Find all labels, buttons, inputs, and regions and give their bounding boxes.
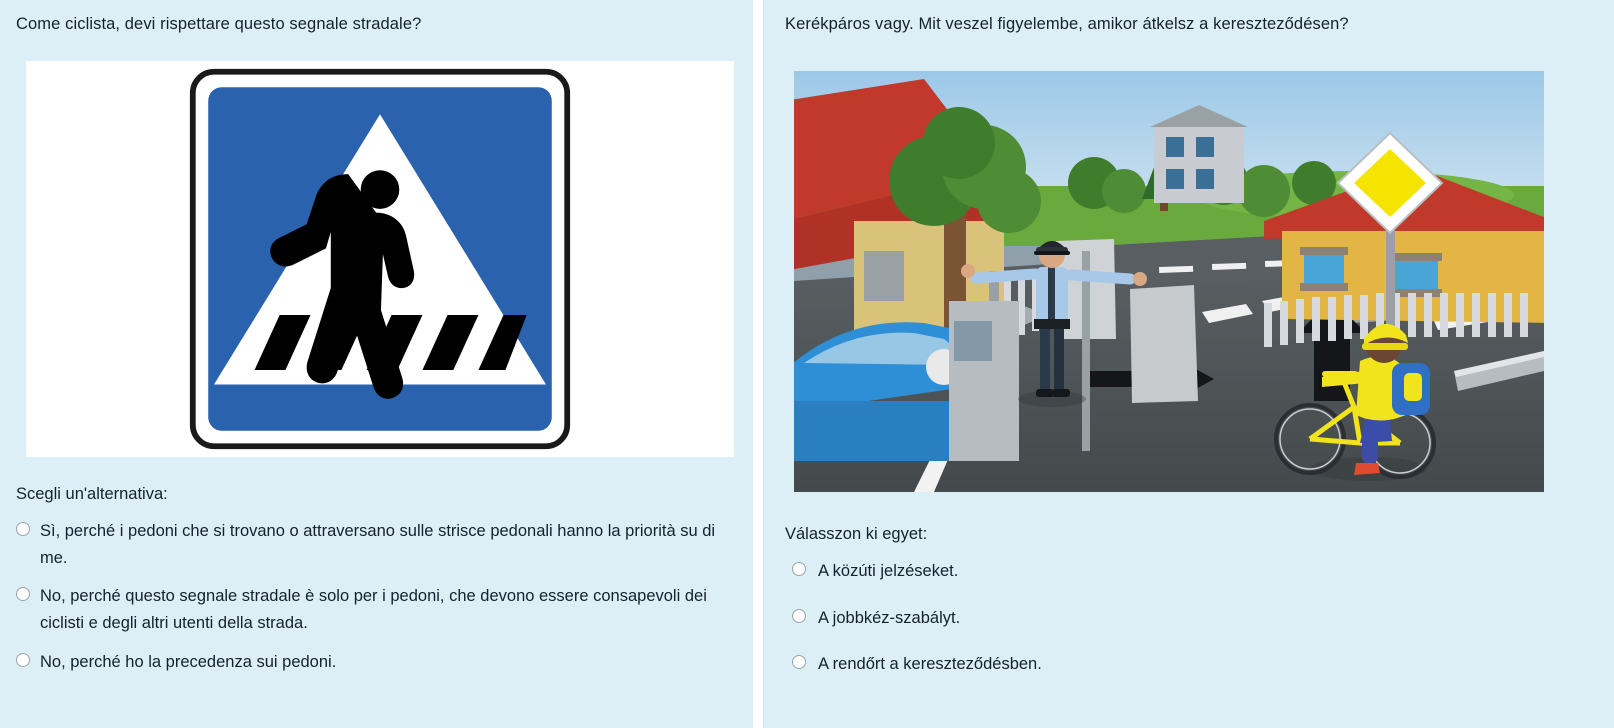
radio-button-icon[interactable] <box>16 653 30 667</box>
radio-button-icon[interactable] <box>792 562 806 576</box>
radio-button-icon[interactable] <box>792 609 806 623</box>
option-label: No, perché questo segnale stradale è sol… <box>40 583 736 636</box>
choose-label-left: Scegli un'alternativa: <box>16 485 168 504</box>
option-label: No, perché ho la precedenza sui pedoni. <box>40 649 336 676</box>
panel-divider <box>753 0 763 728</box>
option-label: Sì, perché i pedoni che si trovano o att… <box>40 518 736 571</box>
quiz-panel-italian: Come ciclista, devi rispettare questo se… <box>0 0 753 728</box>
option-row[interactable]: No, perché ho la precedenza sui pedoni. <box>16 649 736 676</box>
radio-button-icon[interactable] <box>16 587 30 601</box>
quiz-stage: Come ciclista, devi rispettare questo se… <box>0 0 1614 728</box>
pedestrian-crossing-sign-icon <box>187 66 573 452</box>
option-label: A jobbkéz-szabályt. <box>818 605 960 632</box>
question-image-left <box>26 61 734 457</box>
options-list-right: A közúti jelzéseket. A jobbkéz-szabályt.… <box>792 558 1492 698</box>
option-row[interactable]: No, perché questo segnale stradale è sol… <box>16 583 736 636</box>
option-label: A rendőrt a kereszteződésben. <box>818 651 1042 678</box>
quiz-panel-hungarian: Kerékpáros vagy. Mit veszel figyelembe, … <box>763 0 1614 728</box>
option-label: A közúti jelzéseket. <box>818 558 958 585</box>
question-image-right <box>794 71 1544 492</box>
radio-button-icon[interactable] <box>16 522 30 536</box>
question-text-right: Kerékpáros vagy. Mit veszel figyelembe, … <box>764 0 1614 35</box>
option-row[interactable]: Sì, perché i pedoni che si trovano o att… <box>16 518 736 571</box>
choose-label-right: Válasszon ki egyet: <box>785 525 927 544</box>
question-text-left: Come ciclista, devi rispettare questo se… <box>0 0 753 35</box>
radio-button-icon[interactable] <box>792 655 806 669</box>
option-row[interactable]: A jobbkéz-szabályt. <box>792 605 1492 632</box>
option-row[interactable]: A rendőrt a kereszteződésben. <box>792 651 1492 678</box>
option-row[interactable]: A közúti jelzéseket. <box>792 558 1492 585</box>
options-list-left: Sì, perché i pedoni che si trovano o att… <box>16 518 736 688</box>
intersection-scene-illustration <box>794 71 1544 492</box>
